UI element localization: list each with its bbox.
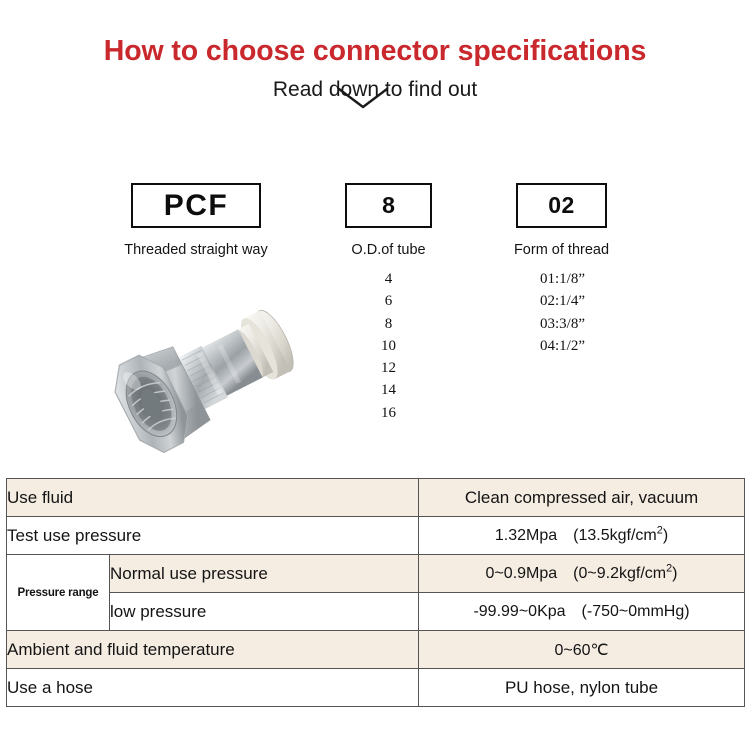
tube-size-option-3: 10: [345, 335, 432, 357]
tube-size-option-4: 12: [345, 357, 432, 379]
row-label-ambient-fluid-temperature: Ambient and fluid temperature: [7, 631, 419, 669]
value-text-tail: ): [663, 527, 668, 544]
table-row: low pressure -99.99~0Kpa (-750~0mmHg): [7, 593, 745, 631]
thread-form-option-0: 01:1/8”: [505, 268, 620, 290]
thread-form-option-1: 02:1/4”: [505, 290, 620, 312]
table-row: Use fluid Clean compressed air, vacuum: [7, 479, 745, 517]
table-row: Use a hose PU hose, nylon tube: [7, 669, 745, 707]
product-photo: [78, 282, 330, 472]
code-thread-text: 02: [548, 194, 575, 217]
row-label-use-fluid: Use fluid: [7, 479, 419, 517]
thread-form-option-2: 03:3/8”: [505, 313, 620, 335]
thread-form-option-list: 01:1/8”02:1/4”03:3/8”04:1/2”: [505, 268, 620, 357]
caption-thread: Form of thread: [486, 241, 637, 259]
tube-size-option-list: 46810121416: [345, 268, 432, 424]
row-group-pressure-range: Pressure range: [7, 555, 110, 631]
code-tube-text: 8: [382, 194, 395, 217]
tube-size-option-5: 14: [345, 379, 432, 401]
row-value-use-fluid: Clean compressed air, vacuum: [419, 479, 745, 517]
specification-table: Use fluid Clean compressed air, vacuum T…: [6, 478, 745, 707]
code-box-thread: 02: [516, 183, 607, 228]
tube-size-option-2: 8: [345, 313, 432, 335]
row-label-test-use-pressure: Test use pressure: [7, 517, 419, 555]
row-label-low-pressure: low pressure: [110, 593, 419, 631]
page-title: How to choose connector specifications: [0, 34, 750, 68]
code-series-text: PCF: [164, 191, 229, 221]
table-row: Ambient and fluid temperature 0~60℃: [7, 631, 745, 669]
value-text: 0~0.9Mpa (0~9.2kgf/cm: [486, 565, 667, 582]
value-text: 1.32Mpa (13.5kgf/cm: [495, 527, 657, 544]
tube-size-option-0: 4: [345, 268, 432, 290]
row-value-ambient-fluid-temperature: 0~60℃: [419, 631, 745, 669]
caption-series: Threaded straight way: [96, 241, 296, 259]
thread-form-option-3: 04:1/2”: [505, 335, 620, 357]
row-label-normal-use-pressure: Normal use pressure: [110, 555, 419, 593]
table-row: Pressure range Normal use pressure 0~0.9…: [7, 555, 745, 593]
row-label-use-a-hose: Use a hose: [7, 669, 419, 707]
row-value-low-pressure: -99.99~0Kpa (-750~0mmHg): [419, 593, 745, 631]
row-value-normal-use-pressure: 0~0.9Mpa (0~9.2kgf/cm2): [419, 555, 745, 593]
table-row: Test use pressure 1.32Mpa (13.5kgf/cm2): [7, 517, 745, 555]
chevron-down-icon: [336, 86, 390, 112]
code-box-series: PCF: [131, 183, 261, 228]
caption-tube: O.D.of tube: [313, 241, 464, 259]
row-value-test-use-pressure: 1.32Mpa (13.5kgf/cm2): [419, 517, 745, 555]
code-box-tube: 8: [345, 183, 432, 228]
tube-size-option-1: 6: [345, 290, 432, 312]
tube-size-option-6: 16: [345, 402, 432, 424]
row-value-use-a-hose: PU hose, nylon tube: [419, 669, 745, 707]
value-text-tail: ): [672, 565, 677, 582]
